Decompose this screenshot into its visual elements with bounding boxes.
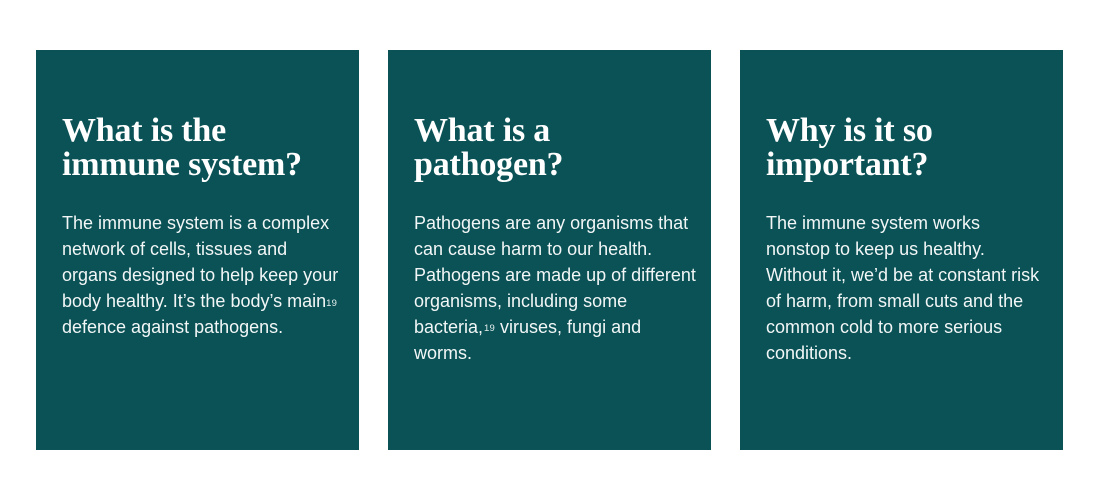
reference-marker-importance xyxy=(852,349,853,360)
card-content-importance: Why is it so important? The immune syste… xyxy=(766,50,1049,450)
info-card-immune-system: What is the immune system? The immune sy… xyxy=(36,50,359,450)
card-content-immune-system: What is the immune system? The immune sy… xyxy=(62,50,345,450)
card-body-tail-immune-system: defence against pathogens. xyxy=(62,317,283,337)
card-body-pathogen: Pathogens are any organisms that can cau… xyxy=(414,210,697,366)
info-card-pathogen: What is a pathogen? Pathogens are any or… xyxy=(388,50,711,450)
reference-marker-pathogen: 19 xyxy=(483,323,495,334)
card-title-immune-system: What is the immune system? xyxy=(62,114,345,182)
card-body-immune-system: The immune system is a complex network o… xyxy=(62,210,345,340)
info-card-importance: Why is it so important? The immune syste… xyxy=(740,50,1063,450)
card-body-text-importance: The immune system works nonstop to keep … xyxy=(766,213,1039,363)
reference-marker-immune-system: 19 xyxy=(326,298,337,309)
card-content-pathogen: What is a pathogen? Pathogens are any or… xyxy=(414,50,697,450)
card-body-text-immune-system: The immune system is a complex network o… xyxy=(62,213,338,311)
card-title-importance: Why is it so important? xyxy=(766,114,1049,182)
info-cards-row: What is the immune system? The immune sy… xyxy=(36,50,1063,450)
card-title-pathogen: What is a pathogen? xyxy=(414,114,697,182)
card-body-importance: The immune system works nonstop to keep … xyxy=(766,210,1049,366)
